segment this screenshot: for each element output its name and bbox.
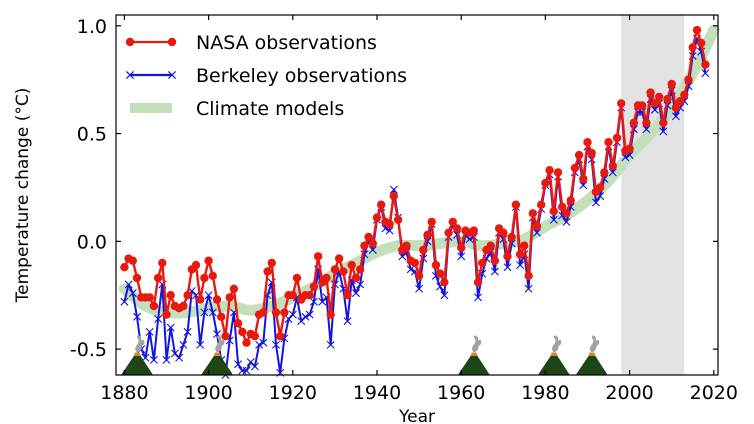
y-tick-label: 0.0 (77, 231, 107, 253)
x-tick-label: 1900 (184, 382, 232, 404)
y-tick-label: 0.5 (77, 124, 107, 146)
volcano-icon (538, 335, 570, 375)
x-axis-tick-labels: 18801900192019401960198020002020 (100, 382, 738, 404)
legend-item: NASA observations (126, 32, 377, 54)
y-tick-label: 1.0 (77, 16, 107, 38)
y-axis-tick-labels: -0.50.00.51.0 (70, 16, 107, 361)
x-tick-label: 1880 (100, 382, 148, 404)
volcano-icon (576, 335, 608, 375)
chart-svg: 18801900192019401960198020002020 -0.50.0… (0, 0, 754, 424)
x-tick-label: 1980 (521, 382, 569, 404)
hiatus-shaded-region (621, 15, 684, 375)
legend-item: Climate models (130, 98, 344, 120)
y-tick-label: -0.5 (70, 339, 107, 361)
berkeley-observations-line (124, 39, 705, 375)
legend-label: Climate models (196, 98, 344, 120)
x-tick-label: 2000 (605, 382, 653, 404)
x-tick-label: 1940 (353, 382, 401, 404)
legend-label: Berkeley observations (196, 65, 407, 87)
chart-legend: NASA observationsBerkeley observationsCl… (126, 32, 407, 120)
x-tick-label: 1960 (437, 382, 485, 404)
legend-item: Berkeley observations (126, 65, 407, 87)
volcano-icon (458, 335, 490, 375)
legend-label: NASA observations (196, 32, 377, 54)
x-axis-title: Year (398, 407, 435, 424)
climate-chart-figure: 18801900192019401960198020002020 -0.50.0… (0, 0, 754, 424)
y-axis-title: Temperature change (°C) (13, 88, 33, 304)
x-tick-label: 1920 (269, 382, 317, 404)
x-tick-label: 2020 (690, 382, 738, 404)
volcano-eruption-markers (121, 335, 608, 375)
